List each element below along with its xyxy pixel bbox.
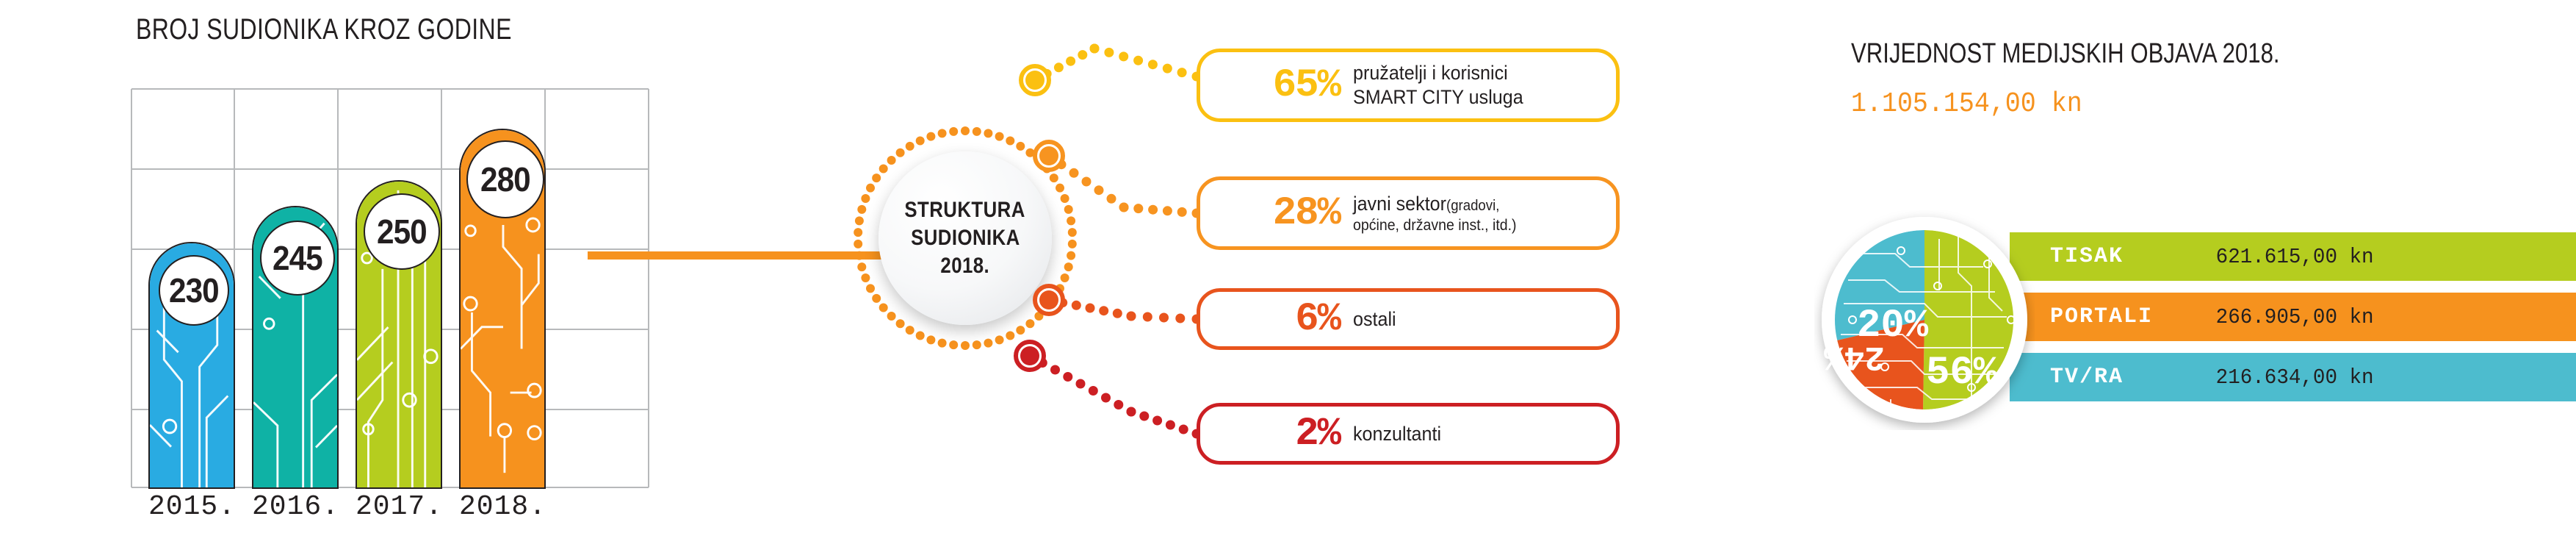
media-row-tvra[interactable]: TV/RA 216.634,00 kn xyxy=(2010,353,2576,401)
callout-6-percent: 6% xyxy=(1200,297,1353,342)
bar-value-badge-2016: 245 xyxy=(260,221,335,296)
media-title: VRIJEDNOST MEDIJSKIH OBJAVA 2018. xyxy=(1851,38,2280,70)
leader-dot-3 xyxy=(1127,407,1136,417)
leader-dot-0 xyxy=(1133,56,1143,65)
leader-dot-2 xyxy=(1143,312,1152,322)
callout-65-label: pružatelji i korisnici SMART CITY usluga xyxy=(1353,61,1523,110)
bar-2017[interactable]: 250 xyxy=(356,180,442,489)
media-row-portali-label: PORTALI xyxy=(2050,304,2153,329)
connector-node-28[interactable] xyxy=(1033,140,1065,172)
media-row-tvra-label: TV/RA xyxy=(2050,365,2124,390)
leader-dot-3 xyxy=(1050,365,1060,375)
callout-28[interactable]: 28% javni sektor(gradovi, općine, državn… xyxy=(1197,176,1620,250)
bar-chart-plot: 230 xyxy=(131,88,649,489)
media-row-portali-value: 266.905,00 kn xyxy=(2216,305,2374,329)
leader-dot-3 xyxy=(1076,379,1086,389)
callout-2[interactable]: 2% konzultanti xyxy=(1197,403,1620,465)
leader-dot-1 xyxy=(1148,205,1158,215)
connector-node-2[interactable] xyxy=(1014,340,1046,372)
callout-2-percent: 2% xyxy=(1200,412,1353,457)
leader-dot-3 xyxy=(1114,400,1123,409)
callout-65-line1: pružatelji i korisnici xyxy=(1353,61,1523,85)
leader-dot-1 xyxy=(1163,206,1172,215)
x-axis-labels: 2015. 2016. 2017. 2018. xyxy=(131,491,649,532)
leader-dot-2 xyxy=(1072,301,1081,310)
page-title: BROJ SUDIONIKA KROZ GODINE xyxy=(136,13,512,46)
callout-2-label: konzultanti xyxy=(1353,422,1441,446)
callout-65-percent: 65% xyxy=(1200,63,1353,108)
callout-6-label: ostali xyxy=(1353,307,1396,332)
x-label-2018: 2018. xyxy=(459,491,546,523)
pie-label-green: 56% xyxy=(1926,351,1998,396)
leader-dot-3 xyxy=(1139,412,1149,421)
bar-2018[interactable]: 280 xyxy=(459,129,546,489)
participants-chart-panel: BROJ SUDIONIKA KROZ GODINE xyxy=(0,0,735,533)
callout-28-percent: 28% xyxy=(1200,191,1353,236)
leader-dot-1 xyxy=(1177,207,1187,217)
leader-dot-2 xyxy=(1086,304,1095,313)
leader-dot-1 xyxy=(1119,203,1129,212)
media-row-portali[interactable]: PORTALI 266.905,00 kn xyxy=(2010,293,2576,341)
leader-dot-3 xyxy=(1179,425,1188,434)
media-row-tisak-value: 621.615,00 kn xyxy=(2216,245,2374,269)
leader-dot-1 xyxy=(1107,194,1116,204)
bar-group: 230 xyxy=(131,88,649,489)
leader-dot-2 xyxy=(1175,314,1185,323)
leader-dot-3 xyxy=(1063,372,1072,382)
callout-28-line2: općine, državne inst., itd.) xyxy=(1353,216,1517,235)
leader-dot-0 xyxy=(1078,50,1087,60)
leader-dot-3 xyxy=(1101,393,1111,403)
x-label-2016: 2016. xyxy=(252,491,339,523)
bar-2016[interactable]: 245 xyxy=(252,206,339,489)
leader-dot-2 xyxy=(1159,313,1169,323)
pie-label-orange: 24% xyxy=(1824,337,1885,376)
leader-dot-0 xyxy=(1119,51,1128,61)
leader-dot-3 xyxy=(1089,386,1098,396)
leader-dot-0 xyxy=(1177,68,1187,77)
media-row-tvra-value: 216.634,00 kn xyxy=(2216,365,2374,390)
bar-2015[interactable]: 230 xyxy=(148,242,235,489)
x-label-2015: 2015. xyxy=(148,491,235,523)
media-total-value: 1.105.154,00 kn xyxy=(1851,88,2082,120)
bar-value-badge-2015: 230 xyxy=(159,255,229,326)
leader-dot-0 xyxy=(1148,60,1158,69)
leader-dot-1 xyxy=(1082,177,1092,187)
media-value-panel: VRIJEDNOST MEDIJSKIH OBJAVA 2018. 1.105.… xyxy=(1807,0,2576,533)
callout-28-main: javni sektor xyxy=(1353,193,1446,215)
leader-dot-0 xyxy=(1066,57,1075,66)
media-row-tisak-label: TISAK xyxy=(2050,244,2124,269)
callout-65-line2: SMART CITY usluga xyxy=(1353,85,1523,110)
leader-dot-2 xyxy=(1127,312,1136,321)
callout-28-label: javni sektor(gradovi, općine, državne in… xyxy=(1353,192,1517,235)
leader-dot-3 xyxy=(1166,421,1175,430)
leader-dot-0 xyxy=(1054,62,1064,72)
media-pie-chart[interactable]: 20% 56% 24% xyxy=(1814,210,2035,430)
callout-28-note: (gradovi, xyxy=(1446,198,1499,214)
leader-dot-0 xyxy=(1163,64,1172,74)
x-label-2017: 2017. xyxy=(356,491,442,523)
bar-value-badge-2017: 250 xyxy=(364,193,440,270)
leader-dot-2 xyxy=(1099,306,1108,315)
leader-dot-0 xyxy=(1104,48,1114,57)
participant-structure-panel: STRUKTURA SUDIONIKA 2018. 65% pružatelji… xyxy=(815,0,1645,533)
leader-dot-1 xyxy=(1094,185,1104,195)
connector-node-65[interactable] xyxy=(1019,64,1051,96)
callout-28-line1: javni sektor(gradovi, xyxy=(1353,192,1517,216)
leader-dot-0 xyxy=(1090,44,1100,54)
leader-dot-1 xyxy=(1069,168,1079,178)
media-row-tisak[interactable]: TISAK 621.615,00 kn xyxy=(2010,232,2576,281)
leader-dot-3 xyxy=(1152,416,1162,426)
callout-6[interactable]: 6% ostali xyxy=(1197,288,1620,350)
callout-65[interactable]: 65% pružatelji i korisnici SMART CITY us… xyxy=(1197,49,1620,122)
leader-dot-2 xyxy=(1113,309,1122,318)
bar-value-badge-2018: 280 xyxy=(466,140,544,218)
leader-dot-1 xyxy=(1133,204,1143,213)
connector-node-6[interactable] xyxy=(1033,284,1065,316)
